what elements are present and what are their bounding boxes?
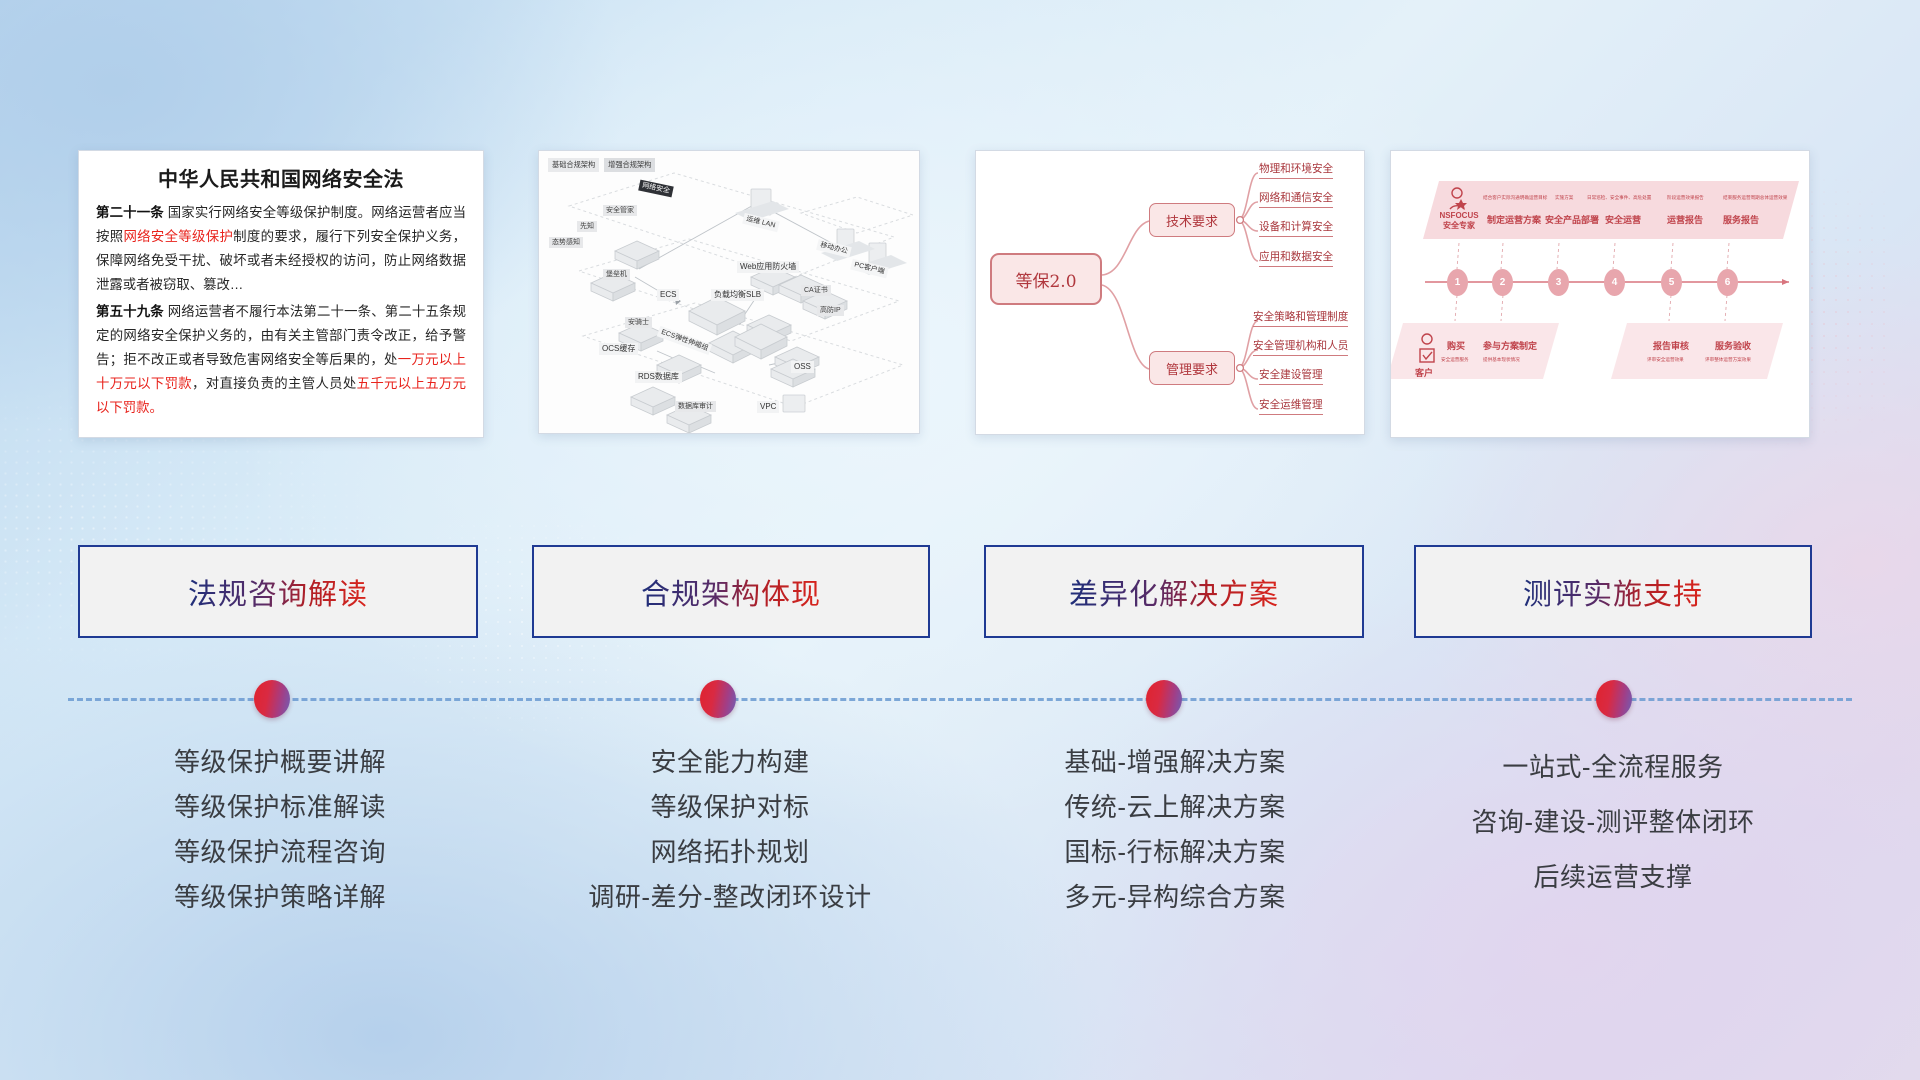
section-title-box-2[interactable]: 合规架构体现 bbox=[532, 545, 930, 638]
law-text-body: 中华人民共和国网络安全法 第二十一条 国家实行网络安全等级保护制度。网络运营者应… bbox=[79, 151, 483, 430]
law-article-21: 第二十一条 国家实行网络安全等级保护制度。网络运营者应当按照网络安全等级保护制度… bbox=[96, 201, 466, 296]
bottom-step-4-title: 服务验收 bbox=[1715, 339, 1751, 352]
section-title-box-1[interactable]: 法规咨询解读 bbox=[78, 545, 478, 638]
timeline-node-2[interactable] bbox=[700, 680, 736, 718]
mindmap-root-node: 等保2.0 bbox=[990, 253, 1102, 305]
arch-label-database-audit: 数据库审计 bbox=[675, 401, 716, 412]
tab-enhanced-framework[interactable]: 增强合规架构 bbox=[604, 158, 655, 172]
list-item: 国标-行标解决方案 bbox=[975, 830, 1375, 875]
detail-column-3: 基础-增强解决方案 传统-云上解决方案 国标-行标解决方案 多元-异构综合方案 bbox=[975, 740, 1375, 920]
timeline-step-number-1: 1 bbox=[1447, 269, 1468, 296]
list-item: 安全能力构建 bbox=[525, 740, 935, 785]
bottom-step-2-desc: 提供基本现状情况 bbox=[1483, 357, 1520, 363]
timeline-step-number-4: 4 bbox=[1604, 269, 1625, 296]
mindmap-leaf-security-policy: 安全策略和管理制度 bbox=[1253, 309, 1348, 327]
nsfocus-brand-name: NSFOCUS bbox=[1439, 211, 1478, 220]
article-59-text-b: ，对直接负责的主管人员处 bbox=[192, 376, 357, 391]
bottom-step-2-title: 参与方案制定 bbox=[1483, 339, 1537, 352]
article-21-label: 第二十一条 bbox=[96, 205, 164, 220]
section-title-1: 法规咨询解读 bbox=[188, 571, 368, 613]
top-step-4-desc: 阶段运营效果报告 bbox=[1667, 195, 1704, 201]
nsfocus-brand-label: NSFOCUS 安全专家 bbox=[1433, 211, 1485, 231]
timeline-node-1[interactable] bbox=[254, 680, 290, 718]
timeline-dashed-line bbox=[68, 698, 1852, 701]
top-step-1-desc: 结合客户实际沟通明确运营目标 bbox=[1483, 195, 1547, 201]
list-item: 咨询-建设-测评整体闭环 bbox=[1410, 795, 1816, 850]
list-item: 调研-差分-整改闭环设计 bbox=[525, 875, 935, 920]
arch-label-security-butler: 安全管家 bbox=[603, 205, 637, 216]
mindmap-leaf-physical-env: 物理和环境安全 bbox=[1259, 161, 1333, 179]
nsfocus-customer-label: 客户 bbox=[1415, 366, 1433, 379]
arch-label-bastion-host: 堡垒机 bbox=[603, 269, 630, 280]
card-nsfocus-service-timeline: NSFOCUS 安全专家 客户 结合客户实际沟通明确运营目标 制定运营方案 实施… bbox=[1390, 150, 1810, 438]
list-item: 等级保护策略详解 bbox=[78, 875, 482, 920]
list-item: 后续运营支撑 bbox=[1410, 850, 1816, 905]
timeline-node-4[interactable] bbox=[1596, 680, 1632, 718]
list-item: 等级保护标准解读 bbox=[78, 785, 482, 830]
nsfocus-brand-subtitle: 安全专家 bbox=[1443, 221, 1475, 230]
list-item: 等级保护对标 bbox=[525, 785, 935, 830]
section-title-box-3[interactable]: 差异化解决方案 bbox=[984, 545, 1364, 638]
section-title-3: 差异化解决方案 bbox=[1069, 571, 1279, 613]
list-item: 基础-增强解决方案 bbox=[975, 740, 1375, 785]
detail-column-2: 安全能力构建 等级保护对标 网络拓扑规划 调研-差分-整改闭环设计 bbox=[525, 740, 935, 920]
timeline-step-number-6: 6 bbox=[1717, 269, 1738, 296]
law-title: 中华人民共和国网络安全法 bbox=[96, 163, 466, 192]
arch-label-xianzhi: 先知 bbox=[577, 221, 597, 232]
arch-label-waf: Web应用防火墙 bbox=[737, 261, 799, 273]
detail-column-4: 一站式-全流程服务 咨询-建设-测评整体闭环 后续运营支撑 bbox=[1410, 740, 1816, 905]
illustration-card-row: 中华人民共和国网络安全法 第二十一条 国家实行网络安全等级保护制度。网络运营者应… bbox=[0, 150, 1920, 440]
list-item: 多元-异构综合方案 bbox=[975, 875, 1375, 920]
list-item: 网络拓扑规划 bbox=[525, 830, 935, 875]
arch-label-anqishi: 安骑士 bbox=[625, 317, 652, 328]
arch-label-rds-database: RDS数据库 bbox=[635, 371, 682, 383]
top-step-1-title: 制定运营方案 bbox=[1487, 213, 1541, 226]
list-item: 等级保护流程咨询 bbox=[78, 830, 482, 875]
mindmap-leaf-security-ops: 安全运维管理 bbox=[1259, 397, 1323, 415]
section-title-row: 法规咨询解读 合规架构体现 差异化解决方案 测评实施支持 bbox=[0, 545, 1920, 645]
arch-label-oss: OSS bbox=[791, 361, 814, 373]
top-step-3-title: 安全运营 bbox=[1605, 213, 1641, 226]
top-step-4-title: 运营报告 bbox=[1667, 213, 1703, 226]
timeline-step-number-5: 5 bbox=[1661, 269, 1682, 296]
top-step-3-desc: 日常巡检、安全事件、高危处置 bbox=[1587, 195, 1651, 201]
timeline-step-number-2: 2 bbox=[1492, 269, 1513, 296]
list-item: 等级保护概要讲解 bbox=[78, 740, 482, 785]
bottom-step-3-desc: 评审安全运营效果 bbox=[1647, 357, 1684, 363]
article-21-highlight: 网络安全等级保护 bbox=[123, 229, 233, 244]
bottom-step-4-desc: 评审整体运营方案效果 bbox=[1705, 357, 1751, 363]
timeline-connector bbox=[0, 690, 1920, 730]
top-step-2-title: 安全产品部署 bbox=[1545, 213, 1599, 226]
mindmap: 等保2.0 技术要求 管理要求 物理和环境安全 网络和通信安全 设备和计算安全 … bbox=[976, 151, 1364, 434]
mindmap-branch-technical: 技术要求 bbox=[1149, 203, 1235, 237]
nsfocus-timeline: NSFOCUS 安全专家 客户 结合客户实际沟通明确运营目标 制定运营方案 实施… bbox=[1391, 151, 1809, 437]
section-title-box-4[interactable]: 测评实施支持 bbox=[1414, 545, 1812, 638]
mindmap-leaf-app-data: 应用和数据安全 bbox=[1259, 249, 1333, 267]
bottom-step-1-title: 购买 bbox=[1447, 339, 1465, 352]
mindmap-branch-management: 管理要求 bbox=[1149, 351, 1235, 385]
card-dengbao-mindmap: 等保2.0 技术要求 管理要求 物理和环境安全 网络和通信安全 设备和计算安全 … bbox=[975, 150, 1365, 435]
top-step-5-title: 服务报告 bbox=[1723, 213, 1759, 226]
card-cybersecurity-law: 中华人民共和国网络安全法 第二十一条 国家实行网络安全等级保护制度。网络运营者应… bbox=[78, 150, 484, 438]
timeline-node-3[interactable] bbox=[1146, 680, 1182, 718]
card-cloud-architecture: 基础合规架构 增强合规架构 网络安全 安全管家 先知 态势感知 堡垒机 安骑士 … bbox=[538, 150, 920, 434]
section-title-2: 合规架构体现 bbox=[641, 571, 821, 613]
arch-label-anti-ddos-ip: 高防IP bbox=[817, 305, 844, 316]
list-item: 一站式-全流程服务 bbox=[1410, 740, 1816, 795]
tab-basic-framework[interactable]: 基础合规架构 bbox=[548, 158, 599, 172]
mindmap-leaf-network-comm: 网络和通信安全 bbox=[1259, 190, 1333, 208]
bottom-step-1-desc: 安全运营服务 bbox=[1441, 357, 1469, 363]
mindmap-leaf-device-compute: 设备和计算安全 bbox=[1259, 219, 1333, 237]
article-59-label: 第五十九条 bbox=[96, 304, 164, 319]
architecture-tabs: 基础合规架构 增强合规架构 bbox=[548, 158, 655, 172]
arch-label-ca-cert: CA证书 bbox=[801, 285, 831, 296]
arch-label-ecs: ECS bbox=[657, 289, 679, 301]
mindmap-leaf-security-build: 安全建设管理 bbox=[1259, 367, 1323, 385]
arch-label-situational-awareness: 态势感知 bbox=[549, 237, 583, 248]
top-step-2-desc: 实施方案 bbox=[1555, 195, 1573, 201]
detail-column-1: 等级保护概要讲解 等级保护标准解读 等级保护流程咨询 等级保护策略详解 bbox=[78, 740, 482, 920]
section-title-4: 测评实施支持 bbox=[1523, 571, 1703, 613]
arch-label-vpc: VPC bbox=[757, 401, 779, 413]
bottom-step-3-title: 报告审核 bbox=[1653, 339, 1689, 352]
law-article-59: 第五十九条 网络运营者不履行本法第二十一条、第二十五条规定的网络安全保护义务的，… bbox=[96, 300, 466, 419]
top-step-5-desc: 结束服务运营周期总体运营效果 bbox=[1723, 195, 1787, 201]
timeline-step-number-3: 3 bbox=[1548, 269, 1569, 296]
arch-label-ocs-cache: OCS缓存 bbox=[599, 343, 638, 355]
list-item: 传统-云上解决方案 bbox=[975, 785, 1375, 830]
mindmap-leaf-security-org: 安全管理机构和人员 bbox=[1253, 338, 1348, 356]
arch-label-slb: 负载均衡SLB bbox=[711, 289, 764, 301]
architecture-diagram: 基础合规架构 增强合规架构 网络安全 安全管家 先知 态势感知 堡垒机 安骑士 … bbox=[539, 151, 919, 433]
